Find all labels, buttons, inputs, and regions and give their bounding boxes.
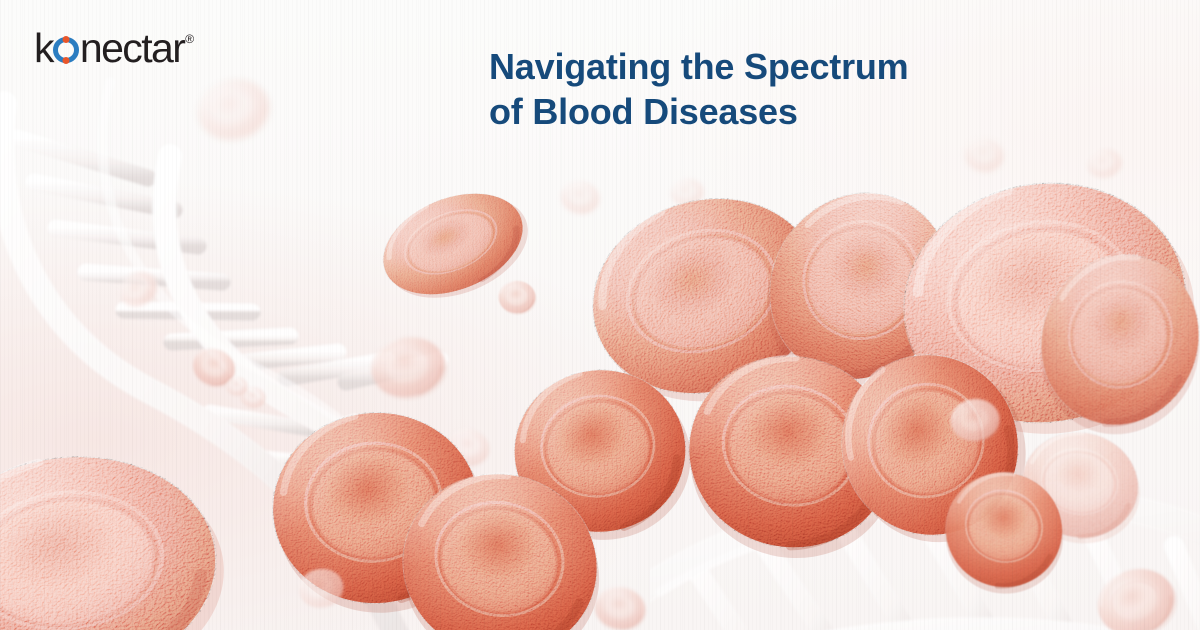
konectar-logo[interactable]: k nectar ® (34, 28, 194, 69)
cell-bottom-small-c (226, 376, 248, 396)
ring-dot-bottom (62, 57, 69, 64)
dna-helix-bottom-right (650, 430, 1200, 630)
cell-large-upper-right (729, 153, 990, 419)
cell-large-upper-mid (563, 164, 849, 427)
cell-edge-on-midleft (365, 171, 540, 316)
cell-center-right (809, 322, 1051, 569)
cell-bottom-right-d (1087, 557, 1184, 630)
cell-faded-left-c (239, 384, 268, 409)
cell-bottom-left-hero (0, 437, 231, 630)
cell-bottom-small-a (294, 564, 347, 613)
cell-mid-center-a (504, 357, 697, 544)
cell-small-midleft (498, 280, 536, 314)
cell-faded-mid-b (443, 424, 494, 470)
konectar-wordmark: k nectar (34, 28, 184, 69)
cell-center-deep (668, 332, 915, 571)
cell-bottom-right-b (948, 396, 1002, 445)
page-title-line-1: Navigating the Spectrum (489, 44, 1049, 89)
dna-helix-top-left (0, 60, 520, 630)
cell-faded-top-e (1083, 145, 1124, 182)
logo-text-before: k (34, 28, 53, 69)
cell-faded-top-a (190, 70, 277, 148)
cell-bottom-right-c (928, 454, 1079, 605)
blood-diseases-banner: k nectar ® Navigating the Spectrum of Bl… (0, 0, 1200, 630)
registered-trademark-symbol: ® (185, 32, 194, 46)
cell-bottom-right-a (1010, 419, 1150, 552)
cell-faded-top-d (962, 136, 1005, 174)
page-title: Navigating the Spectrum of Blood Disease… (489, 44, 1049, 135)
cell-hero-right (884, 159, 1200, 447)
cell-faded-left-b (186, 341, 241, 393)
cell-faded-top-c (668, 176, 706, 208)
logo-text-after: nectar (80, 28, 184, 69)
page-title-line-2: of Blood Diseases (489, 89, 1049, 134)
ring-dot-top (62, 36, 69, 43)
cell-bottom-mid-b (380, 449, 620, 630)
cell-mid-right-b (1014, 228, 1200, 452)
cell-faded-left-a (112, 264, 164, 315)
cell-faded-mid-a (365, 330, 451, 404)
cell-bottom-small-b (591, 582, 650, 630)
cell-bottom-mid-a (263, 401, 488, 615)
konectar-o-ring-icon (53, 37, 79, 63)
cell-faded-top-b (557, 177, 602, 217)
